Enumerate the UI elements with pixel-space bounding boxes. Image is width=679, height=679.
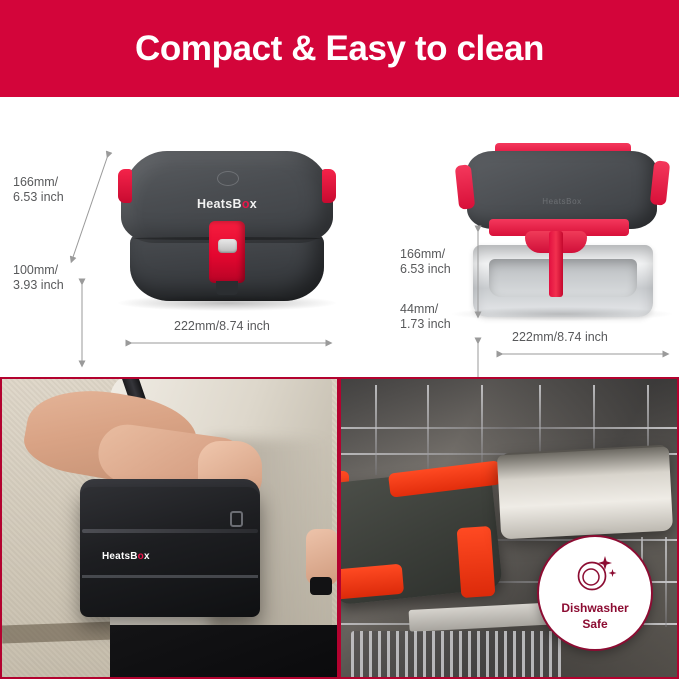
logo-o-accent: o xyxy=(242,197,250,211)
dishwasher-rack-wire xyxy=(341,427,677,429)
latch-foot xyxy=(216,281,238,295)
product-infographic-page: Compact & Easy to clean HeatsBox xyxy=(0,0,679,679)
latch-release-button xyxy=(218,239,237,253)
page-title: Compact & Easy to clean xyxy=(135,29,544,69)
person-pants xyxy=(110,625,339,679)
dishwasher-safe-icon xyxy=(572,554,618,594)
bag-zipper-pull xyxy=(230,511,243,527)
right-height-lower-label: 44mm/ 1.73 inch xyxy=(400,302,451,332)
left-height-lower-label: 100mm/ 3.93 inch xyxy=(13,263,64,293)
left-width-label: 222mm/8.74 inch xyxy=(174,319,270,334)
left-dimension-arrows xyxy=(60,142,120,412)
lunchbox-logo: HeatsBox xyxy=(121,197,333,211)
right-dimension-arrows xyxy=(466,223,490,403)
dimensions-diagram: HeatsBox 166mm/ 6.53 inch 100mm/ 3.93 in… xyxy=(0,97,679,377)
red-heating-plate-stem xyxy=(549,231,563,297)
rack-tine xyxy=(481,385,483,467)
photo-row: HeatsBox xyxy=(0,377,679,679)
left-height-upper-label: 166mm/ 6.53 inch xyxy=(13,175,64,205)
tray-inner-cavity xyxy=(489,259,637,297)
photo-person-with-bag: HeatsBox xyxy=(0,377,339,679)
wrist-watch xyxy=(310,577,332,595)
lid-clip-right-photo xyxy=(457,526,496,598)
open-lid-logo: HeatsBox xyxy=(467,197,657,206)
lid-clip-right xyxy=(650,160,671,205)
right-width-label: 222mm/8.74 inch xyxy=(512,330,608,345)
power-button-icon xyxy=(217,171,239,186)
header-banner: Compact & Easy to clean xyxy=(0,0,679,97)
steel-tray-in-dishwasher xyxy=(497,447,673,540)
left-product-shadow xyxy=(118,295,336,311)
cutlery-basket xyxy=(351,631,561,679)
rack-tine xyxy=(427,385,429,471)
right-height-upper-label: 166mm/ 6.53 inch xyxy=(400,247,451,277)
open-lid xyxy=(467,151,657,229)
left-width-arrow xyxy=(125,337,335,349)
dishwasher-safe-label: Dishwasher Safe xyxy=(561,600,628,632)
bag-zipper-lower xyxy=(82,575,258,578)
dishwasher-safe-badge: Dishwasher Safe xyxy=(537,535,653,651)
rack-tine xyxy=(665,537,667,627)
photo-dishwasher: Dishwasher Safe xyxy=(339,377,679,679)
bag-zipper-upper xyxy=(82,529,258,533)
bag-logo: HeatsBox xyxy=(102,551,150,562)
rack-tine xyxy=(375,385,377,475)
right-width-arrow xyxy=(496,348,672,360)
closed-lunchbox-illustration: HeatsBox xyxy=(121,151,333,306)
rack-tine xyxy=(539,385,541,455)
